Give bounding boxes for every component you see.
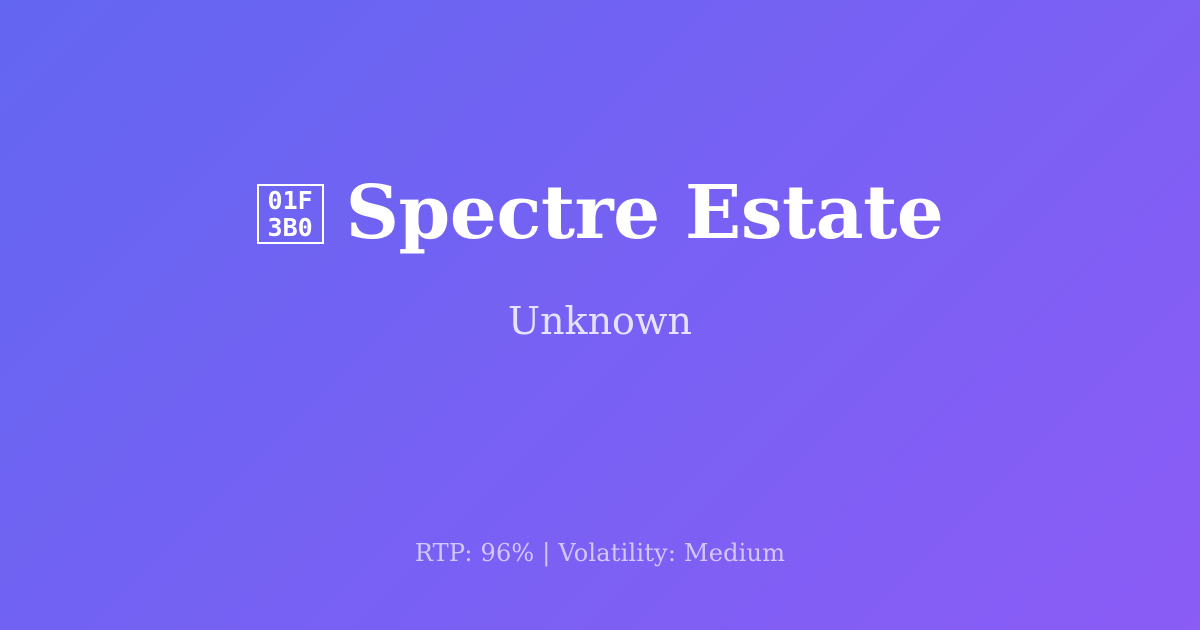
hero-block: 01F 3B0 Spectre Estate Unknown [0,0,1200,520]
title-row: 01F 3B0 Spectre Estate [257,175,944,253]
page-subtitle: Unknown [508,299,692,345]
page-title: Spectre Estate [346,175,944,253]
slot-machine-icon-codepoint-high: 01F [268,188,313,214]
slot-machine-icon-codepoint-low: 3B0 [268,215,313,241]
og-preview-card: 01F 3B0 Spectre Estate Unknown RTP: 96% … [0,0,1200,630]
slot-machine-icon: 01F 3B0 [257,184,324,244]
game-stats-line: RTP: 96% | Volatility: Medium [0,539,1200,568]
